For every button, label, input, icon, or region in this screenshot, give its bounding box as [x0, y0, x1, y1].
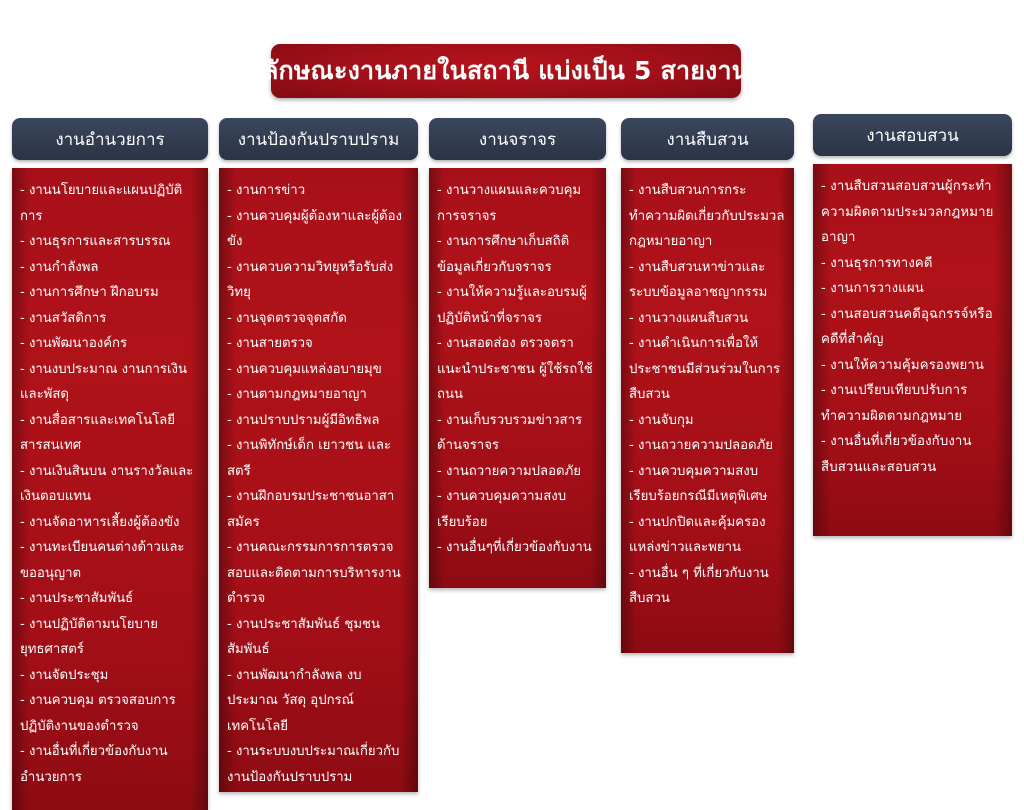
list-item: - งานประชาสัมพันธ์: [20, 586, 200, 612]
list-item: - งานสืบสวนหาข่าวและระบบข้อมูลอาชญากรรม: [629, 255, 786, 306]
list-item: - งานปราบปรามผู้มีอิทธิพล: [227, 408, 410, 434]
column-body-investigation: - งานสืบสวนการกระทำความผิดเกี่ยวกับประมว…: [621, 168, 794, 653]
list-item: - งานควบคุมความสงบเรียบร้อย: [437, 484, 598, 535]
list-item: - งานสายตรวจ: [227, 331, 410, 357]
list-item: - งานควบคุมผู้ต้องหาและผู้ต้องขัง: [227, 204, 410, 255]
list-item: - งานควบคุมความสงบเรียบร้อยกรณีมีเหตุพิเ…: [629, 459, 786, 510]
list-item: - งานเปรียบเทียบปรับการทำความผิดตามกฎหมา…: [821, 378, 1004, 429]
list-item: - งานอื่นที่เกี่ยวข้องกับงานสืบสวนและสอบ…: [821, 429, 1004, 480]
list-item: - งานดำเนินการเพื่อให้ประชาชนมีส่วนร่วมใ…: [629, 331, 786, 408]
column-body-administration: - งานนโยบายและแผนปฏิบัติการ - งานธุรการแ…: [12, 168, 208, 810]
list-item: - งานงบประมาณ งานการเงินและพัสดุ: [20, 357, 200, 408]
list-item: - งานทะเบียนคนต่างด้าวและขออนุญาต: [20, 535, 200, 586]
list-item: - งานพัฒนาองค์กร: [20, 331, 200, 357]
list-item: - งานสืบสวนการกระทำความผิดเกี่ยวกับประมว…: [629, 178, 786, 255]
list-item: - งานสื่อสารและเทคโนโลยีสารสนเทศ: [20, 408, 200, 459]
list-item: - งานสอบสวนคดีอุฉกรรจ์หรือคดีที่สำคัญ: [821, 302, 1004, 353]
list-item: - งานควบความวิทยุหรือรับส่งวิทยุ: [227, 255, 410, 306]
list-item: - งานเก็บรวบรวมข่าวสารด้านจราจร: [437, 408, 598, 459]
list-item: - งานประชาสัมพันธ์ ชุมชนสัมพันธ์: [227, 612, 410, 663]
list-item: - งานปกปิดและคุ้มครองแหล่งข่าวและพยาน: [629, 510, 786, 561]
list-item: - งานการวางแผน: [821, 276, 1004, 302]
slide-title-banner: ลักษณะงานภายในสถานี แบ่งเป็น 5 สายงาน: [271, 44, 741, 98]
list-item: - งานถวายความปลอดภัย: [629, 433, 786, 459]
list-item: - งานธุรการและสารบรรณ: [20, 229, 200, 255]
list-item: - งานสวัสดิการ: [20, 306, 200, 332]
list-item: - งานควบคุมแหล่งอบายมุข: [227, 357, 410, 383]
list-item: - งานสืบสวนสอบสวนผู้กระทำความผิดตามประมว…: [821, 174, 1004, 251]
list-item: - งานควบคุม ตรวจสอบการปฏิบัติงานของตำรวจ: [20, 688, 200, 739]
column-header-traffic[interactable]: งานจราจร: [429, 118, 606, 160]
list-item: - งานนโยบายและแผนปฏิบัติการ: [20, 178, 200, 229]
list-item: - งานถวายความปลอดภัย: [227, 790, 410, 792]
list-item: - งานจุดตรวจจุดสกัด: [227, 306, 410, 332]
list-item: - งานปฏิบัติตามนโยบายยุทธศาสตร์: [20, 612, 200, 663]
column-body-traffic: - งานวางแผนและควบคุมการจราจร - งานการศึก…: [429, 168, 606, 588]
list-item: - งานการศึกษา ฝึกอบรม: [20, 280, 200, 306]
list-item: - งานวางแผนสืบสวน: [629, 306, 786, 332]
list-item: - งานตามกฎหมายอาญา: [227, 382, 410, 408]
list-item: - งานระบบงบประมาณเกี่ยวกับงานป้องกันปราบ…: [227, 739, 410, 790]
list-item: - งานจัดอาหารเลี้ยงผู้ต้องขัง: [20, 510, 200, 536]
list-item: - งานพัฒนากำลังพล งบประมาณ วัสดุ อุปกรณ์…: [227, 663, 410, 740]
list-item: - งานฝึกอบรมประชาชนอาสาสมัคร: [227, 484, 410, 535]
list-item: - งานจับกุม: [629, 408, 786, 434]
list-item: - งานเงินสินบน งานรางวัลและเงินตอบแทน: [20, 459, 200, 510]
work-branch-column-administration: งานอำนวยการ - งานนโยบายและแผนปฏิบัติการ …: [12, 118, 208, 810]
column-header-administration[interactable]: งานอำนวยการ: [12, 118, 208, 160]
column-header-crime-prevention[interactable]: งานป้องกันปราบปราม: [219, 118, 418, 160]
list-item: - งานอื่นๆที่เกี่ยวข้องกับงาน: [437, 535, 598, 561]
list-item: - งานการศึกษาเก็บสถิติข้อมูลเกี่ยวกับจรา…: [437, 229, 598, 280]
page-title: ลักษณะงานภายในสถานี แบ่งเป็น 5 สายงาน: [263, 57, 749, 85]
list-item: - งานพิทักษ์เด็ก เยาวชน และสตรี: [227, 433, 410, 484]
column-body-crime-prevention: - งานการข่าว - งานควบคุมผู้ต้องหาและผู้ต…: [219, 168, 418, 792]
work-branch-column-inquiry: งานสอบสวน - งานสืบสวนสอบสวนผู้กระทำความผ…: [813, 114, 1012, 536]
list-item: - งานธุรการทางคดี: [821, 251, 1004, 277]
column-body-inquiry: - งานสืบสวนสอบสวนผู้กระทำความผิดตามประมว…: [813, 164, 1012, 536]
list-item: - งานถวายความปลอดภัย: [437, 459, 598, 485]
list-item: - งานอื่น ๆ ที่เกี่ยวกับงานสืบสวน: [629, 561, 786, 612]
list-item: - งานให้ความคุ้มครองพยาน: [821, 353, 1004, 379]
list-item: - งานการข่าว: [227, 178, 410, 204]
list-item: - งานให้ความรู้และอบรมผู้ปฏิบัติหน้าที่จ…: [437, 280, 598, 331]
list-item: - งานอื่นที่เกี่ยวข้องกับงานอำนวยการ: [20, 739, 200, 790]
work-branch-column-investigation: งานสืบสวน - งานสืบสวนการกระทำความผิดเกี่…: [621, 118, 794, 653]
column-header-investigation[interactable]: งานสืบสวน: [621, 118, 794, 160]
work-branch-column-traffic: งานจราจร - งานวางแผนและควบคุมการจราจร - …: [429, 118, 606, 588]
list-item: - งานคณะกรรมการการตรวจสอบและติดตามการบริ…: [227, 535, 410, 612]
work-branch-column-crime-prevention: งานป้องกันปราบปราม - งานการข่าว - งานควบ…: [219, 118, 418, 792]
list-item: - งานสอดส่อง ตรวจตรา แนะนำประชาชน ผู้ใช้…: [437, 331, 598, 408]
list-item: - งานวางแผนและควบคุมการจราจร: [437, 178, 598, 229]
column-header-inquiry[interactable]: งานสอบสวน: [813, 114, 1012, 156]
list-item: - งานกำลังพล: [20, 255, 200, 281]
list-item: - งานจัดประชุม: [20, 663, 200, 689]
